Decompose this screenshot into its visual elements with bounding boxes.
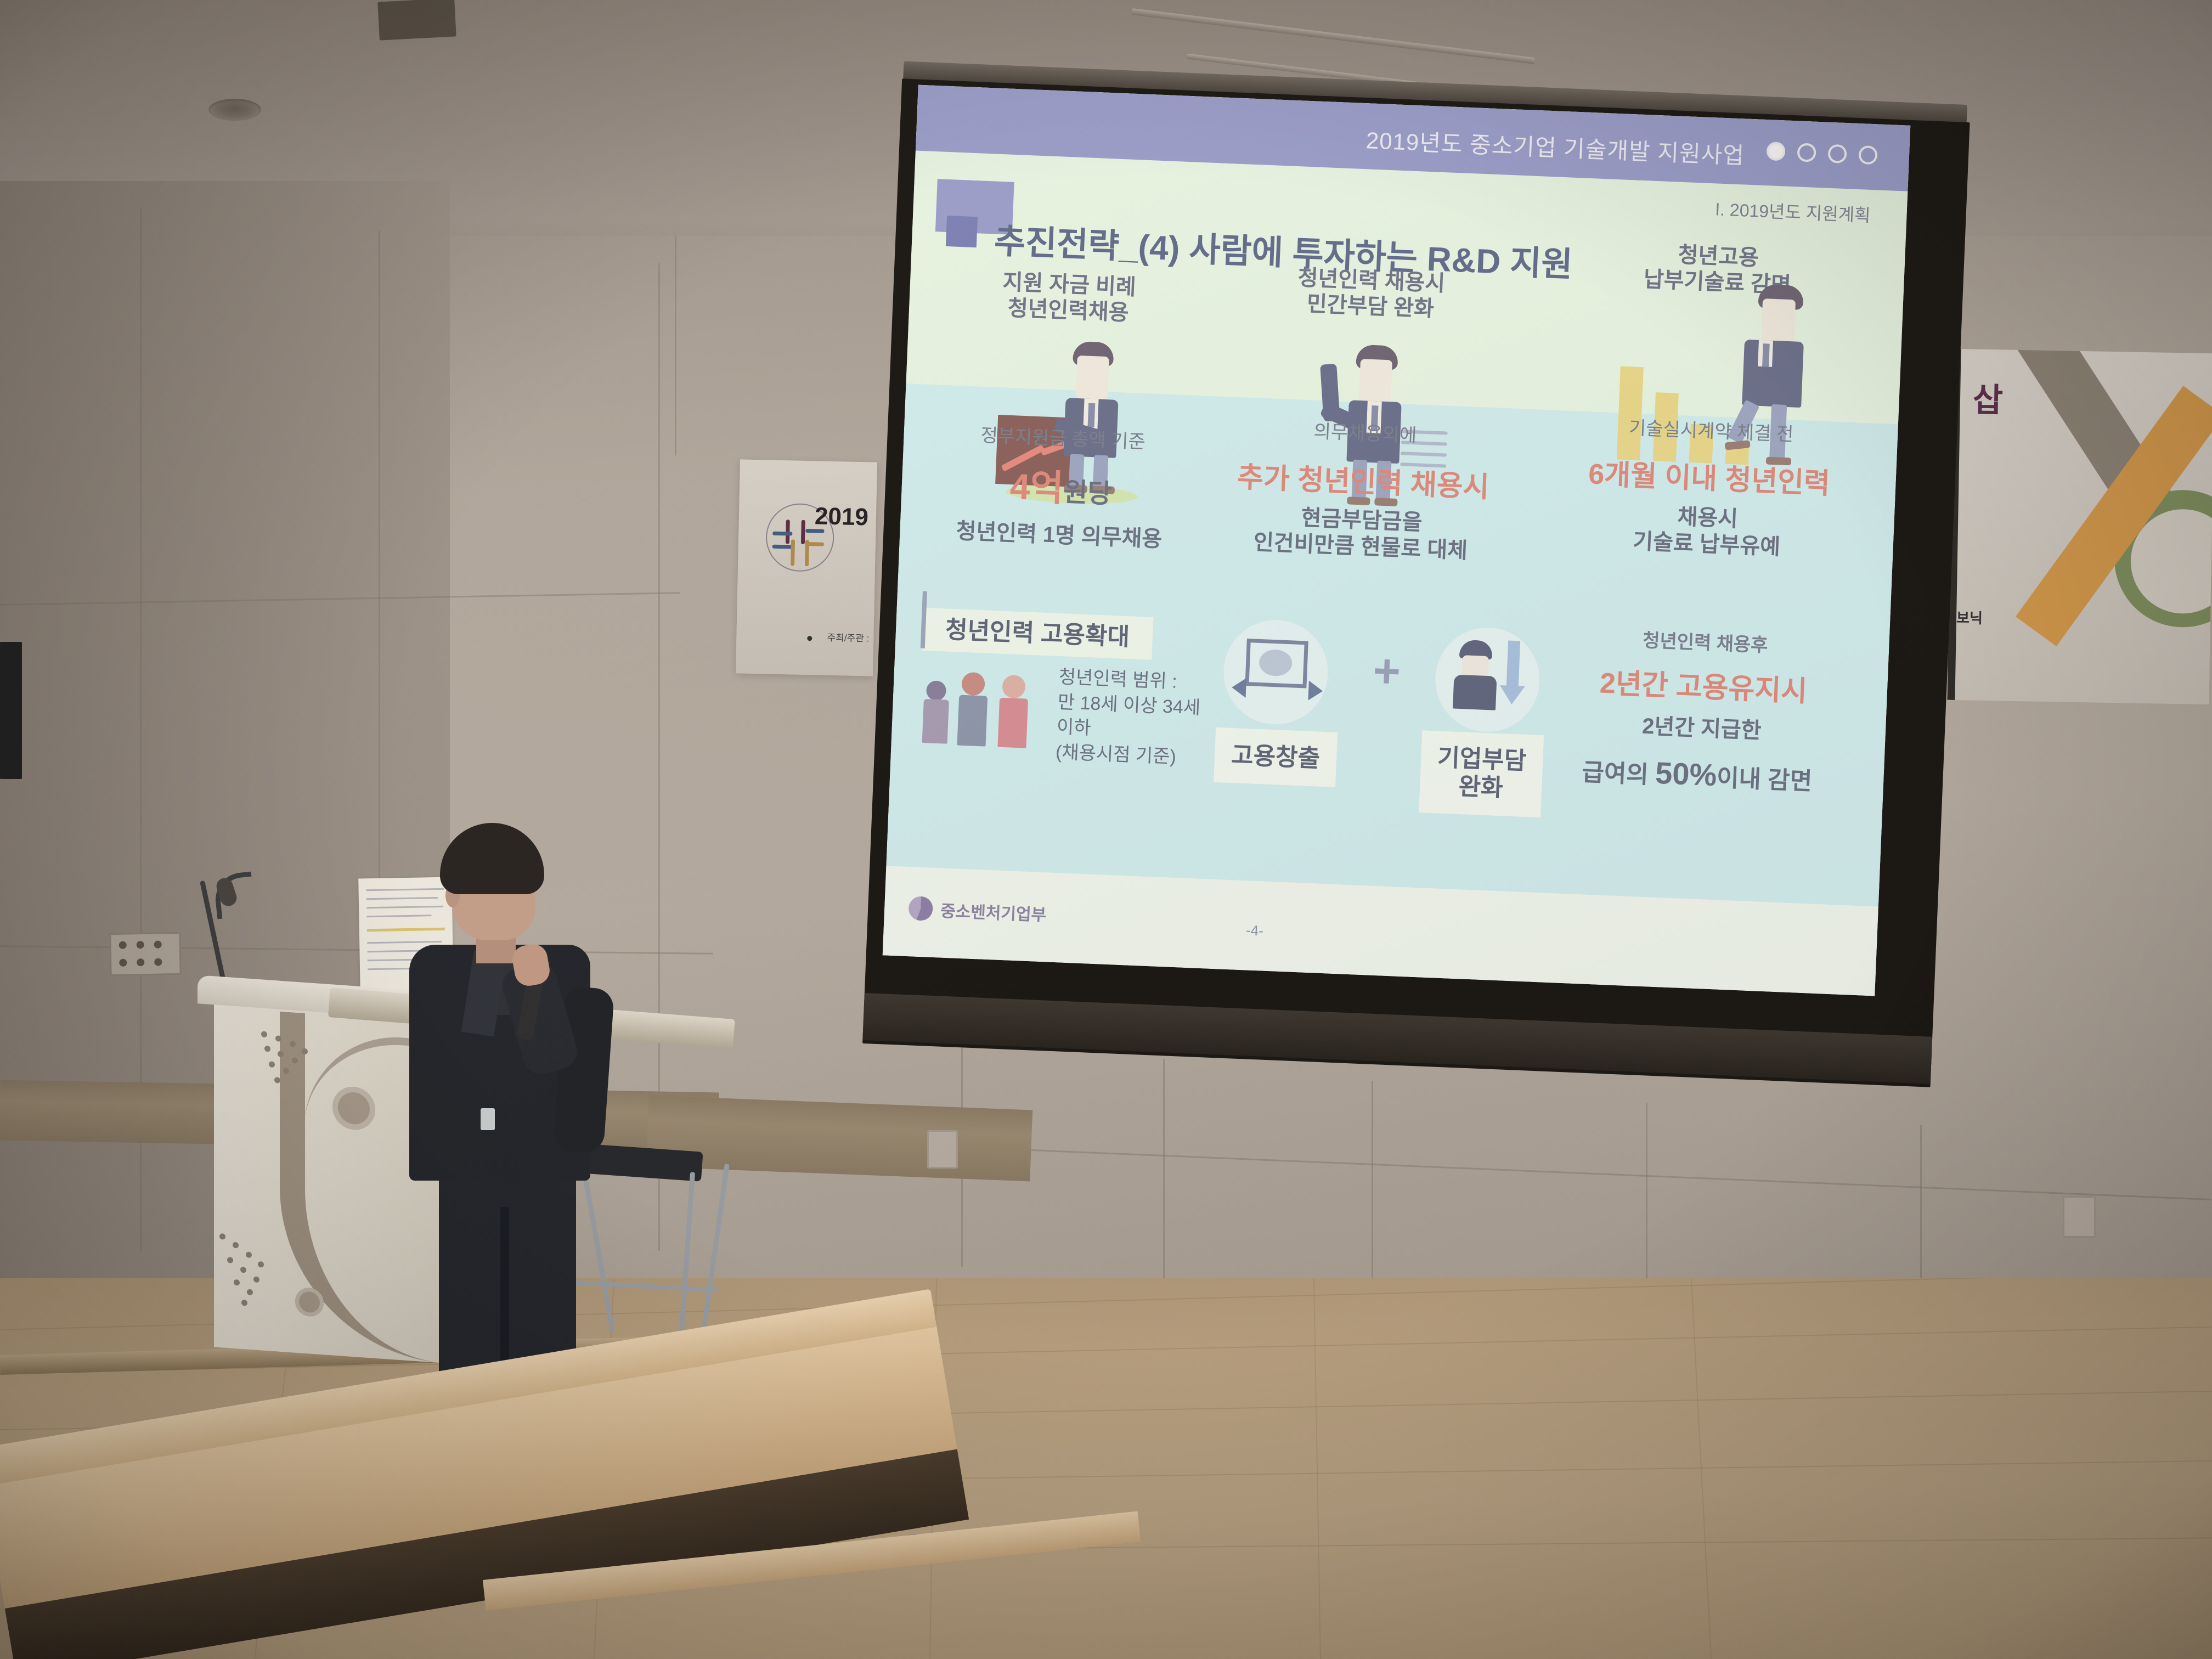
side-poster: 삽 보닉 (1947, 349, 2212, 704)
wall-socket (927, 1130, 958, 1169)
ministry-mark-icon (908, 896, 933, 921)
ceiling-vent (377, 0, 456, 41)
col-left-highlight-rest: 원당 (1063, 478, 1112, 509)
screen-surface: 2019년도 중소기업 기술개발 지원사업 I. 2019년도 지원계획 추진전… (883, 85, 1911, 996)
down-arrow-shaft (1506, 641, 1521, 689)
line3-suffix: 이내 감면 (1716, 764, 1813, 795)
banner-host-label: 주최/주관 : (827, 630, 869, 645)
heading-accent-square (946, 216, 978, 247)
presentation-slide: 2019년도 중소기업 기술개발 지원사업 I. 2019년도 지원계획 추진전… (883, 85, 1911, 996)
bar-1 (1617, 366, 1644, 460)
poster-subtitle: 보닉 (1956, 607, 1983, 628)
outlet-panel (109, 932, 181, 976)
tag-employment-creation: 고용창출 (1214, 727, 1338, 787)
lecture-hall-photo: 삽 보닉 2019 주최/주관 : 2019년 (0, 0, 2212, 1659)
pagination-dot-1 (1766, 142, 1785, 161)
plus-operator: + (1372, 647, 1402, 695)
banner-year: 2019 (815, 503, 869, 531)
podium-dot-pattern-2 (219, 1233, 291, 1315)
podium-dot-pattern (261, 1031, 327, 1101)
down-arrow-head (1499, 685, 1525, 705)
illustration-man-on-bar-chart (1611, 278, 1849, 485)
col-left-highlight-number: 4억 (1009, 466, 1064, 509)
slide-section-label: I. 2019년도 지원계획 (1714, 195, 1871, 227)
wall-dark-panel (0, 642, 22, 779)
person-body-icon (1453, 675, 1497, 710)
banner-bullet-icon (807, 636, 812, 641)
bar-4 (1725, 447, 1749, 465)
pagination-dot-4 (1858, 145, 1877, 165)
pagination-dot-2 (1797, 143, 1816, 162)
line3-number: 50% (1655, 755, 1718, 793)
wall-seam (1372, 1081, 1373, 1311)
ministry-name: 중소벤처기업부 (940, 898, 1047, 926)
arrow-left-icon (1232, 678, 1246, 698)
poster-title: 삽 (1961, 382, 2009, 418)
presenter-badge (481, 1108, 495, 1130)
line3-prefix: 급여의 (1581, 759, 1656, 788)
venue-banner: 2019 주최/주관 : (736, 459, 877, 676)
col-left-top-caption: 지원 자금 비례 청년인력채용 (941, 267, 1195, 329)
wall-socket (2063, 1196, 2096, 1238)
slide-page-mark: -4- (1245, 922, 1263, 939)
arrow-right-icon (1308, 681, 1323, 701)
wainscot-mid (646, 1096, 1032, 1182)
pagination-dot-3 (1827, 144, 1847, 163)
wall-seam (675, 236, 676, 455)
downlight-icon (208, 99, 261, 121)
col-middle-top-caption: 청년인력 채용시 민간부담 완화 (1227, 262, 1514, 326)
projector-screen: 2019년도 중소기업 기술개발 지원사업 I. 2019년도 지원계획 추진전… (870, 82, 1955, 1112)
tag-burden-relief: 기업부담 완화 (1419, 730, 1544, 817)
wall-seam (1163, 1059, 1165, 1289)
people-icons (919, 666, 1054, 754)
